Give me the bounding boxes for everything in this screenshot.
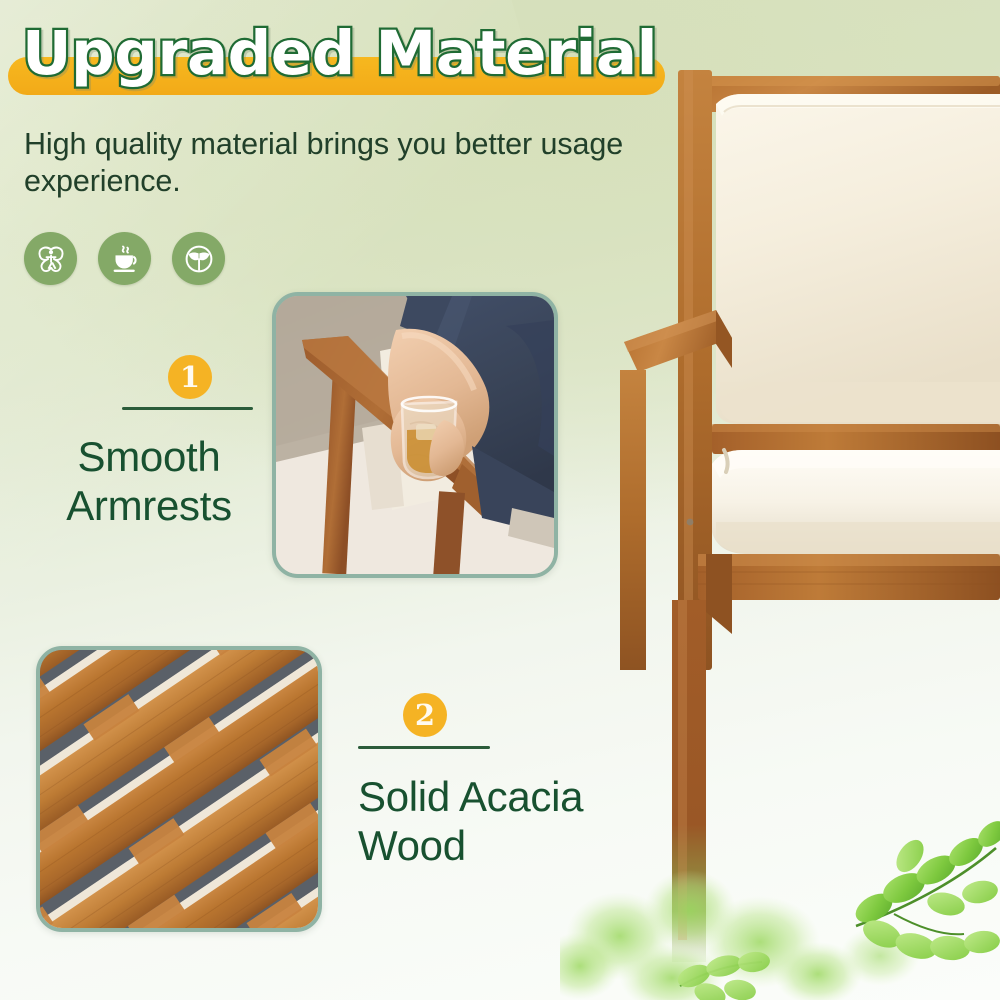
feature-2-number: 2 [403,693,447,737]
feature-2-label-line1: Solid Acacia [358,773,583,820]
feature-badge-row [24,232,225,285]
feature-1-label-line1: Smooth [78,433,221,480]
badge-natural-wood [172,232,225,285]
acacia-wood-slats-photo [40,650,318,928]
feature-1-label-line2: Armrests [66,482,232,529]
feature-1-label: Smooth Armrests [26,432,272,530]
badge-leisure [98,232,151,285]
title-wrap: Upgraded Material Upgraded Material [0,0,700,100]
butterfly-comfort-icon [34,242,68,276]
armrest-closeup-photo [276,296,554,574]
product-infographic: Upgraded Material Upgraded Material High… [0,0,1000,1000]
acacia-wood-inset [36,646,322,932]
feature-2-label: Solid Acacia Wood [358,772,658,870]
coffee-cup-icon [108,242,142,276]
leaf-plant-icon [182,242,216,276]
feature-1-number: 1 [168,355,212,399]
acacia-wood-chair [620,52,1000,962]
feature-2-divider [358,746,490,749]
armrest-closeup-inset [272,292,558,578]
feature-1-divider [122,407,253,410]
badge-comfort [24,232,77,285]
feature-2-label-line2: Wood [358,822,466,869]
page-subtitle: High quality material brings you better … [24,126,664,200]
page-title: Upgraded Material [22,18,657,89]
header: Upgraded Material Upgraded Material High… [0,0,700,100]
